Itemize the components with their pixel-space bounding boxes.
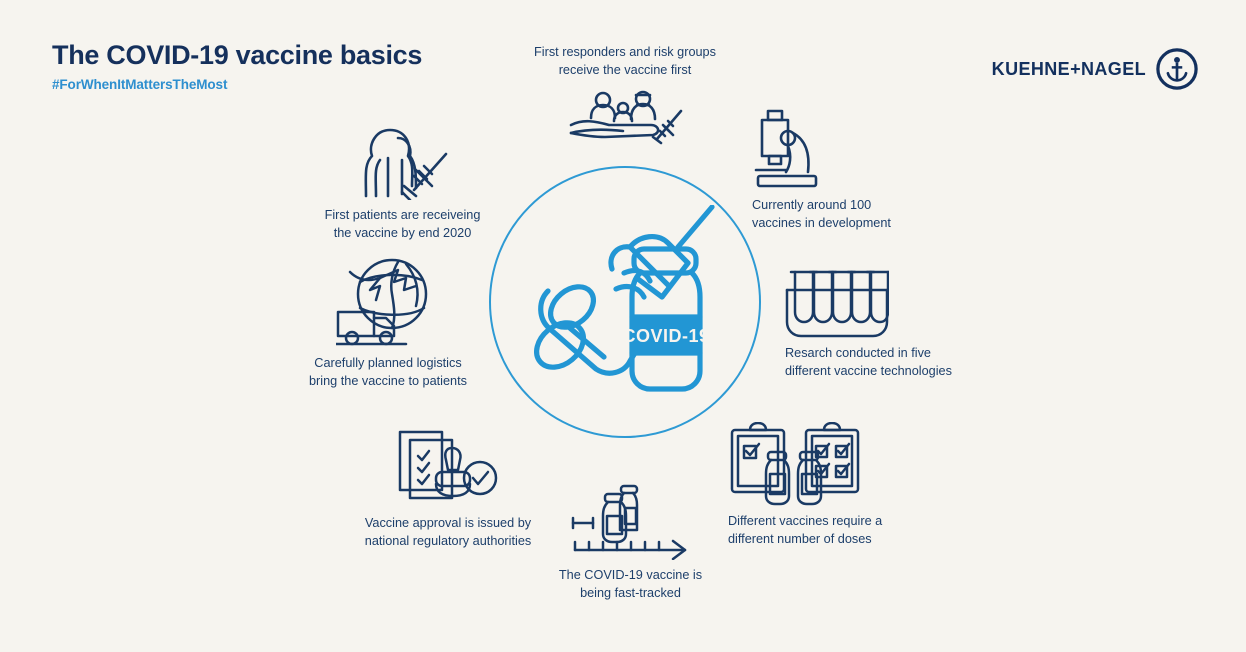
documents-stamp-approval-icon xyxy=(396,428,500,508)
node-caption: The COVID-19 vaccine is being fast-track… xyxy=(538,567,723,602)
node-fast-tracked: The COVID-19 vaccine is being fast-track… xyxy=(538,484,723,602)
node-vaccine-approval: Vaccine approval is issued by national r… xyxy=(348,428,548,550)
node-research-technologies: Resarch conducted in five different vacc… xyxy=(785,268,1015,380)
node-logistics: Carefully planned logistics bring the va… xyxy=(288,256,488,390)
page-title: The COVID-19 vaccine basics xyxy=(52,40,422,71)
node-number-of-doses: Different vaccines require a different n… xyxy=(728,422,958,548)
microscope-icon xyxy=(752,108,826,190)
node-caption: Carefully planned logistics bring the va… xyxy=(288,355,488,390)
node-caption: Vaccine approval is issued by national r… xyxy=(348,515,548,550)
logo-wordmark: KUEHNE+NAGEL xyxy=(992,59,1146,80)
node-caption: First patients are receiveing the vaccin… xyxy=(300,207,505,242)
hand-holding-people-with-syringe-icon xyxy=(565,85,685,145)
campaign-hashtag: #ForWhenItMattersTheMost xyxy=(52,77,422,92)
clipboards-and-vials-icon xyxy=(728,422,862,506)
node-vaccines-in-development: Currently around 100 vaccines in develop… xyxy=(752,108,982,232)
vials-on-timeline-arrow-icon xyxy=(569,484,693,560)
node-caption: Resarch conducted in five different vacc… xyxy=(785,345,1015,380)
node-caption: Different vaccines require a different n… xyxy=(728,513,958,548)
test-tube-rack-icon xyxy=(785,268,889,338)
two-people-with-syringe-icon xyxy=(354,124,452,200)
syringe-and-vaccine-vial-icon: COVID-19 xyxy=(512,205,740,405)
brand-logo: KUEHNE+NAGEL xyxy=(992,48,1198,90)
infographic-canvas: The COVID-19 vaccine basics #ForWhenItMa… xyxy=(0,0,1246,652)
center-label: COVID-19 xyxy=(622,326,709,346)
node-caption: First responders and risk groups receive… xyxy=(505,44,745,79)
title-block: The COVID-19 vaccine basics #ForWhenItMa… xyxy=(52,40,422,92)
node-first-patients: First patients are receiveing the vaccin… xyxy=(300,124,505,242)
node-first-responders: First responders and risk groups receive… xyxy=(505,44,745,145)
anchor-in-circle-icon xyxy=(1156,48,1198,90)
globe-plane-truck-icon xyxy=(336,256,440,348)
node-caption: Currently around 100 vaccines in develop… xyxy=(752,197,982,232)
